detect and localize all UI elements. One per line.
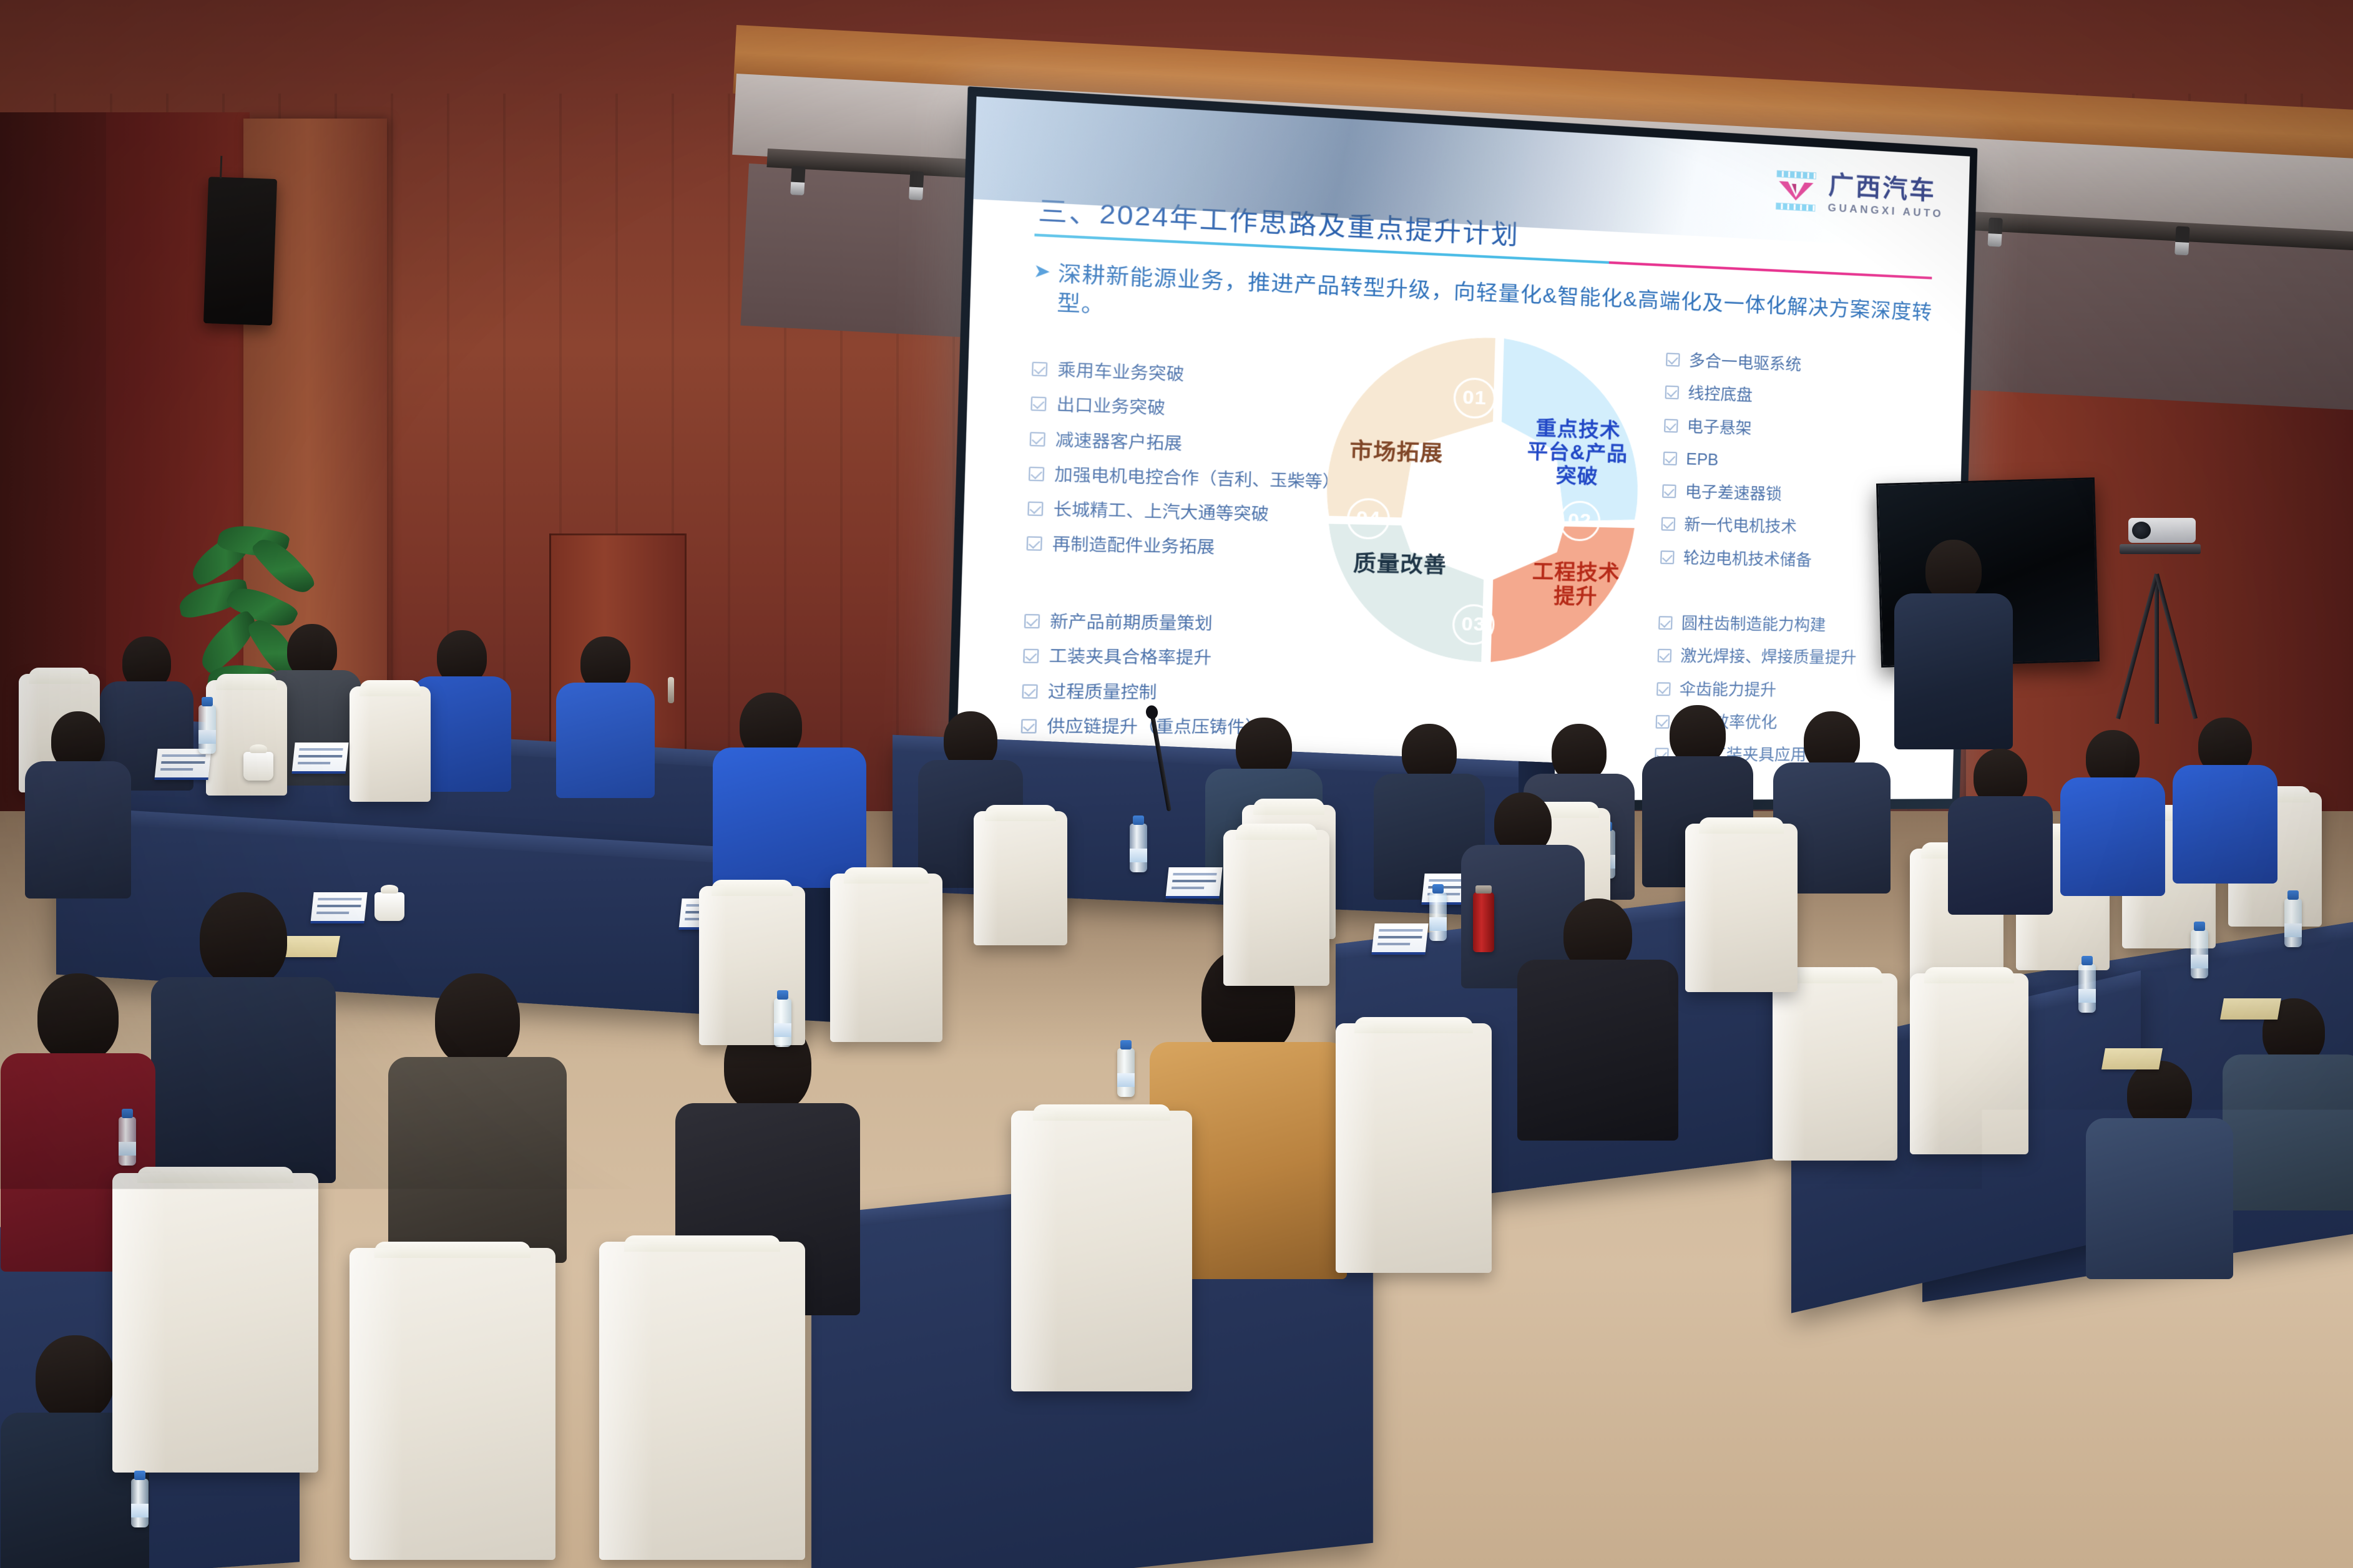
chair	[830, 874, 942, 1042]
attendee	[2172, 718, 2278, 874]
water-bottle	[131, 1479, 149, 1527]
checkbox-icon	[1027, 537, 1042, 551]
bullet-label: 再制造配件业务拓展	[1052, 534, 1215, 558]
track-spotlight	[2174, 226, 2189, 255]
caret-icon: ➤	[1033, 258, 1051, 285]
thermos-flask	[1473, 892, 1494, 952]
wall-speaker	[203, 177, 277, 326]
bullet-item: 工装夹具合格率提升	[1023, 646, 1345, 671]
checkbox-icon	[1029, 467, 1044, 482]
checkbox-icon	[1032, 362, 1047, 377]
bullet-column-top-left: 乘用车业务突破 出口业务突破 减速器客户拓展 加强电机电控合作（吉利、玉柴等） …	[1026, 359, 1354, 574]
water-bottle	[1429, 892, 1447, 941]
chair	[1685, 824, 1798, 992]
logo-text-cn: 广西汽车	[1828, 173, 1945, 205]
bullet-item: 线控底盘	[1665, 383, 1951, 413]
bullet-label: 新产品前期质量策划	[1050, 611, 1213, 635]
bullet-label: 激光焊接、焊接质量提升	[1680, 646, 1857, 668]
chair	[1336, 1023, 1492, 1273]
notepad	[2101, 1048, 2163, 1069]
conference-room-photo: 广西汽车 GUANGXI AUTO 三、2024年工作思路及重点提升计划 ➤ 深…	[0, 0, 2353, 1568]
bullet-item: 多合一电驱系统	[1666, 350, 1952, 381]
company-logo: 广西汽车 GUANGXI AUTO	[1771, 166, 1944, 222]
track-spotlight	[790, 166, 805, 195]
water-bottle	[2078, 964, 2096, 1013]
attendee	[712, 693, 868, 880]
bullet-item: 乘用车业务突破	[1032, 359, 1354, 391]
water-bottle	[774, 998, 791, 1047]
chair	[974, 811, 1067, 945]
presenter-head	[1925, 540, 1982, 602]
bullet-label: 出口业务突破	[1056, 395, 1165, 420]
checkbox-icon	[1022, 684, 1037, 698]
segment-04-label: 质量改善	[1328, 550, 1472, 578]
water-bottle	[1117, 1048, 1135, 1097]
bullet-item: 电子悬架	[1664, 416, 1950, 446]
bullet-item: 过程质量控制	[1022, 681, 1344, 704]
attendee	[25, 711, 131, 892]
bullet-label: 过程质量控制	[1047, 681, 1157, 703]
checkbox-icon	[1023, 649, 1039, 663]
attendee	[150, 892, 337, 1173]
segment-02-label: 重点技术平台&产品突破	[1499, 416, 1656, 490]
name-card	[1371, 923, 1428, 955]
bullet-label: 电子悬架	[1686, 417, 1751, 439]
checkbox-icon	[1024, 614, 1040, 628]
bullet-item: 减速器客户拓展	[1029, 429, 1351, 459]
tea-cup	[374, 892, 404, 921]
checkbox-icon	[1027, 502, 1043, 517]
bullet-label: 减速器客户拓展	[1055, 430, 1183, 455]
presenter	[1891, 540, 2016, 746]
slide-title: 三、2024年工作思路及重点提升计划	[1037, 189, 1520, 252]
segment-03-label: 工程技术提升	[1504, 559, 1646, 610]
bullet-label: 长城精工、上汽大通等突破	[1053, 499, 1269, 525]
bullet-label: 加强电机电控合作（吉利、玉柴等）	[1054, 464, 1340, 493]
chair	[350, 686, 431, 802]
tripod-head	[2120, 544, 2201, 554]
bullet-item: 再制造配件业务拓展	[1026, 533, 1348, 561]
bullet-item: 长城精工、上汽大通等突破	[1027, 499, 1349, 527]
chair	[112, 1173, 318, 1473]
name-card	[291, 743, 348, 774]
bullet-label: 乘用车业务突破	[1057, 360, 1185, 386]
presentation-slide: 广西汽车 GUANGXI AUTO 三、2024年工作思路及重点提升计划 ➤ 深…	[955, 97, 1970, 803]
attendee	[387, 973, 568, 1254]
attendee	[2085, 1061, 2234, 1273]
bullet-item: EPB	[1663, 449, 1949, 477]
bullet-label: 新一代电机技术	[1684, 515, 1797, 538]
bullet-label: 伞齿能力提升	[1680, 679, 1777, 700]
notepad	[2220, 998, 2281, 1020]
water-bottle	[119, 1117, 136, 1166]
attendee	[1947, 749, 2053, 905]
chair	[1223, 830, 1329, 986]
presenter-torso	[1894, 593, 2013, 749]
checkbox-icon	[1656, 682, 1671, 696]
chair	[1011, 1111, 1192, 1391]
bullet-label: 电子差速器锁	[1685, 482, 1782, 505]
water-bottle	[1130, 824, 1147, 872]
checkbox-icon	[1030, 432, 1045, 447]
attendee	[2222, 998, 2353, 1204]
guangxi-auto-logo-icon	[1771, 166, 1820, 215]
attendee	[555, 636, 655, 786]
track-spotlight	[1987, 218, 2002, 247]
chair	[1910, 973, 2028, 1154]
segment-01-label: 市场拓展	[1324, 437, 1469, 467]
camera-tripod	[2116, 518, 2203, 724]
bullet-label: EPB	[1686, 449, 1719, 470]
cycle-diagram: 市场拓展 重点技术平台&产品突破 工程技术提升 质量改善 01 02 03 04	[1303, 316, 1671, 678]
water-bottle	[198, 705, 216, 754]
logo-text-en: GUANGXI AUTO	[1827, 202, 1944, 219]
projection-screen: 广西汽车 GUANGXI AUTO 三、2024年工作思路及重点提升计划 ➤ 深…	[955, 97, 1970, 803]
bullet-label: 线控底盘	[1688, 384, 1753, 406]
bullet-label: 多合一电驱系统	[1688, 351, 1801, 376]
water-bottle	[2284, 898, 2302, 947]
bullet-label: 轮边电机技术储备	[1683, 548, 1812, 570]
chair	[350, 1248, 555, 1560]
bullet-label: 工装夹具合格率提升	[1049, 646, 1211, 669]
door-handle[interactable]	[668, 677, 674, 703]
checkbox-icon	[1030, 397, 1046, 412]
bullet-item: 新产品前期质量策划	[1024, 611, 1346, 636]
chair	[599, 1242, 805, 1560]
v-mark-icon	[1777, 179, 1814, 203]
track-spotlight	[909, 171, 924, 200]
attendee-dark-blazer	[1517, 898, 1679, 1136]
bullet-item: 出口业务突破	[1030, 394, 1353, 425]
bullet-label: 圆柱齿制造能力构建	[1681, 614, 1826, 636]
attendee	[2060, 730, 2166, 886]
tea-cup	[243, 752, 273, 781]
name-card	[1165, 867, 1222, 898]
water-bottle	[2191, 930, 2208, 978]
video-camera	[2128, 518, 2196, 543]
bullet-item: 加强电机电控合作（吉利、玉柴等）	[1029, 464, 1351, 493]
chair	[1773, 973, 1897, 1161]
